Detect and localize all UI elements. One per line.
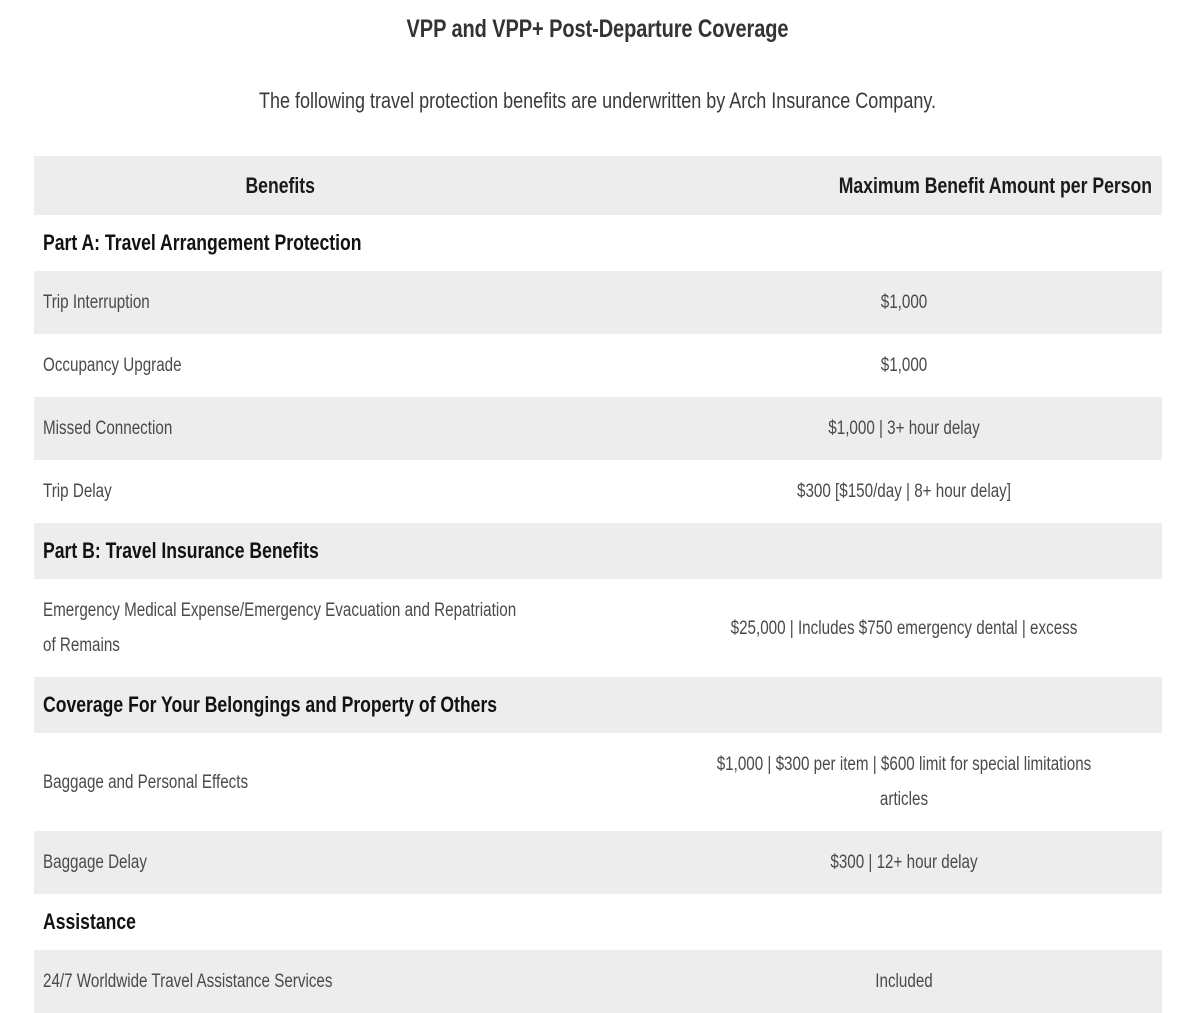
benefit-label: Baggage and Personal Effects bbox=[43, 765, 517, 800]
section-title-part-b: Part B: Travel Insurance Benefits bbox=[43, 538, 930, 564]
benefit-amount: Included bbox=[705, 964, 1102, 999]
amount-cell: $1,000 bbox=[646, 271, 1162, 334]
benefit-cell: Missed Connection bbox=[34, 397, 646, 460]
section-header-cell: Part B: Travel Insurance Benefits bbox=[34, 523, 1162, 579]
table-row: Emergency Medical Expense/Emergency Evac… bbox=[34, 579, 1162, 677]
amount-cell: $1,000 | $300 per item | $600 limit for … bbox=[646, 733, 1162, 831]
benefit-cell: Trip Interruption bbox=[34, 271, 646, 334]
table-section-row: Part B: Travel Insurance Benefits bbox=[34, 523, 1162, 579]
column-header-benefits-label: Benefits bbox=[43, 173, 517, 198]
table-row: Baggage Delay $300 | 12+ hour delay bbox=[34, 831, 1162, 894]
page-subtitle: The following travel protection benefits… bbox=[120, 43, 1076, 114]
amount-cell: $300 [$150/day | 8+ hour delay] bbox=[646, 460, 1162, 523]
section-header-cell: Part A: Travel Arrangement Protection bbox=[34, 215, 1162, 271]
benefit-amount: $1,000 | 3+ hour delay bbox=[705, 411, 1102, 446]
section-header-cell: Assistance bbox=[34, 894, 1162, 950]
benefit-cell: Occupancy Upgrade bbox=[34, 334, 646, 397]
benefit-amount: $1,000 bbox=[705, 348, 1102, 383]
table-row: Baggage and Personal Effects $1,000 | $3… bbox=[34, 733, 1162, 831]
benefit-amount: $1,000 bbox=[705, 285, 1102, 320]
table-row: 24/7 Worldwide Travel Assistance Service… bbox=[34, 950, 1162, 1013]
page-title: VPP and VPP+ Post-Departure Coverage bbox=[120, 0, 1076, 43]
column-header-amount: Maximum Benefit Amount per Person bbox=[646, 156, 1162, 215]
benefit-cell: 24/7 Worldwide Travel Assistance Service… bbox=[34, 950, 646, 1013]
amount-cell: Included bbox=[646, 950, 1162, 1013]
benefit-cell: Trip Delay bbox=[34, 460, 646, 523]
benefit-label: Trip Interruption bbox=[43, 285, 517, 320]
column-header-benefits: Benefits bbox=[34, 156, 646, 215]
column-header-amount-label: Maximum Benefit Amount per Person bbox=[755, 173, 1152, 198]
benefit-label: Baggage Delay bbox=[43, 845, 517, 880]
amount-cell: $25,000 | Includes $750 emergency dental… bbox=[646, 579, 1162, 677]
section-title-assistance: Assistance bbox=[43, 909, 930, 935]
benefit-amount: $1,000 | $300 per item | $600 limit for … bbox=[705, 747, 1102, 817]
section-header-cell: Coverage For Your Belongings and Propert… bbox=[34, 677, 1162, 733]
benefit-label: Emergency Medical Expense/Emergency Evac… bbox=[43, 593, 517, 663]
benefit-label: Occupancy Upgrade bbox=[43, 348, 517, 383]
benefit-cell: Baggage Delay bbox=[34, 831, 646, 894]
benefit-label: Missed Connection bbox=[43, 411, 517, 446]
amount-cell: $1,000 bbox=[646, 334, 1162, 397]
table-row: Trip Interruption $1,000 bbox=[34, 271, 1162, 334]
table-section-row: Coverage For Your Belongings and Propert… bbox=[34, 677, 1162, 733]
section-title-belongings: Coverage For Your Belongings and Propert… bbox=[43, 692, 930, 718]
amount-cell: $300 | 12+ hour delay bbox=[646, 831, 1162, 894]
table-section-row: Part A: Travel Arrangement Protection bbox=[34, 215, 1162, 271]
amount-cell: $1,000 | 3+ hour delay bbox=[646, 397, 1162, 460]
table-body: Part A: Travel Arrangement Protection Tr… bbox=[34, 215, 1162, 1013]
benefits-table: Benefits Maximum Benefit Amount per Pers… bbox=[34, 156, 1162, 1013]
benefit-cell: Baggage and Personal Effects bbox=[34, 733, 646, 831]
benefit-amount: $300 [$150/day | 8+ hour delay] bbox=[705, 474, 1102, 509]
benefit-cell: Emergency Medical Expense/Emergency Evac… bbox=[34, 579, 646, 677]
benefit-amount: $300 | 12+ hour delay bbox=[705, 845, 1102, 880]
benefit-label: Trip Delay bbox=[43, 474, 517, 509]
benefit-label: 24/7 Worldwide Travel Assistance Service… bbox=[43, 964, 517, 999]
coverage-page: VPP and VPP+ Post-Departure Coverage The… bbox=[0, 0, 1195, 1013]
table-row: Trip Delay $300 [$150/day | 8+ hour dela… bbox=[34, 460, 1162, 523]
benefit-amount: $25,000 | Includes $750 emergency dental… bbox=[705, 611, 1102, 646]
section-title-part-a: Part A: Travel Arrangement Protection bbox=[43, 230, 930, 256]
table-header: Benefits Maximum Benefit Amount per Pers… bbox=[34, 156, 1162, 215]
table-header-row: Benefits Maximum Benefit Amount per Pers… bbox=[34, 156, 1162, 215]
table-row: Missed Connection $1,000 | 3+ hour delay bbox=[34, 397, 1162, 460]
table-section-row: Assistance bbox=[34, 894, 1162, 950]
table-row: Occupancy Upgrade $1,000 bbox=[34, 334, 1162, 397]
